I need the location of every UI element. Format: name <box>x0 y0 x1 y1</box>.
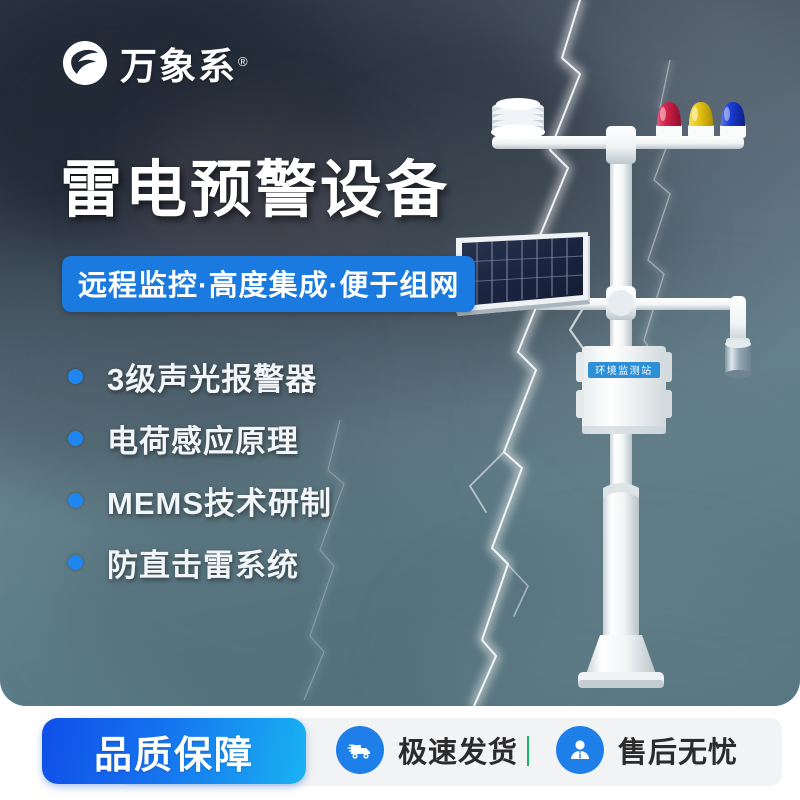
subtitle-badge: 远程监控·高度集成·便于组网 <box>62 256 475 312</box>
quality-badge: 品质保障 <box>42 718 306 784</box>
trust-divider <box>527 736 529 766</box>
list-item: MEMS技术研制 <box>68 469 332 531</box>
list-item: 3级声光报警器 <box>68 345 332 407</box>
radiation-shield-sensor <box>491 98 545 140</box>
bullet-dot-icon <box>68 431 83 446</box>
list-item: 防直击雷系统 <box>68 531 332 593</box>
bullet-dot-icon <box>68 493 83 508</box>
base-plate <box>586 635 656 674</box>
solar-panel <box>456 232 590 316</box>
blue-alarm-beacon <box>720 102 746 138</box>
product-banner: 环境监测站 万象系® 雷电预警设备 远程监控·高度集成·便于组网 3级声光报 <box>0 0 800 800</box>
feature-label: 3级声光报警器 <box>107 354 317 399</box>
control-box: 环境监测站 <box>576 346 672 434</box>
page-title: 雷电预警设备 <box>60 160 450 222</box>
trust-item-shipping: 极速发货 <box>336 726 518 774</box>
trust-item-label: 售后无忧 <box>618 729 738 771</box>
feature-label: 防直击雷系统 <box>107 540 299 585</box>
brand-logo: 万象系® <box>60 36 250 90</box>
hero-background: 环境监测站 万象系® 雷电预警设备 远程监控·高度集成·便于组网 3级声光报 <box>0 0 800 706</box>
red-alarm-beacon <box>656 102 682 138</box>
support-agent-icon <box>556 726 604 774</box>
bullet-dot-icon <box>68 555 83 570</box>
feature-list: 3级声光报警器 电荷感应原理 MEMS技术研制 防直击雷系统 <box>68 345 332 593</box>
product-illustration: 环境监测站 <box>440 90 800 700</box>
trademark-symbol: ® <box>238 54 250 69</box>
trust-item-label: 极速发货 <box>398 729 518 771</box>
delivery-truck-icon <box>336 726 384 774</box>
control-box-label: 环境监测站 <box>595 364 653 377</box>
bullet-dot-icon <box>68 369 83 384</box>
brand-name-text: 万象系 <box>120 46 237 87</box>
feature-label: 电荷感应原理 <box>107 416 299 461</box>
feature-label: MEMS技术研制 <box>107 478 332 523</box>
yellow-alarm-beacon <box>688 102 714 138</box>
trust-item-aftersales: 售后无忧 <box>556 726 738 774</box>
swoosh-circle-logo-icon <box>60 38 110 88</box>
brand-name: 万象系® <box>120 36 250 90</box>
list-item: 电荷感应原理 <box>68 407 332 469</box>
